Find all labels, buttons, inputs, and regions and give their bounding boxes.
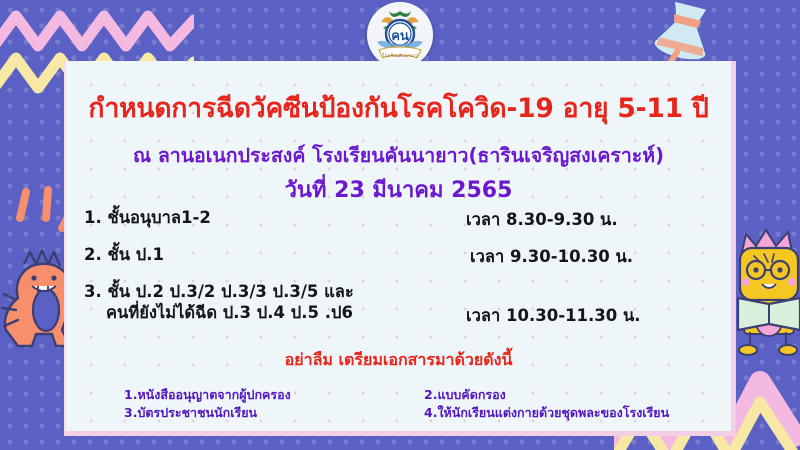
- schedule-time: เวลา 9.30-10.30 น.: [466, 244, 717, 270]
- school-logo: คน โรงเรียนคันนายาว: [367, 2, 433, 68]
- document-item: 3.บัตรประชาชนนักเรียน: [124, 404, 424, 421]
- schedule-class: 2. ชั้น ป.1: [84, 244, 466, 265]
- schedule-time: เวลา 10.30-11.30 น.: [466, 281, 717, 329]
- schedule-class-line-2: คนที่ยังไม่ได้ฉีด ป.3 ป.4 ป.5 .ป6: [84, 302, 466, 323]
- school-emblem-icon: คน โรงเรียนคันนายาว: [367, 2, 433, 68]
- announcement-card: กำหนดการฉีดวัคซีนป้องกันโรคโควิด-19 อายุ…: [64, 61, 736, 436]
- schedule-class: 3. ชั้น ป.2 ป.3/2 ป.3/3 ป.3/5 และ คนที่ย…: [84, 281, 466, 323]
- schedule-time: เวลา 8.30-9.30 น.: [466, 207, 717, 233]
- schedule-list: 1. ชั้นอนุบาล1-2 เวลา 8.30-9.30 น. 2. ชั…: [84, 207, 717, 329]
- svg-text:โรงเรียนคันนายาว: โรงเรียนคันนายาว: [382, 52, 418, 59]
- document-item: 4.ให้นักเรียนแต่งกายด้วยชุดพละของโรงเรีย…: [424, 404, 717, 421]
- documents-list: 1.หนังสืออนุญาตจากผู้ปกครอง 2.แบบคัดกรอง…: [124, 386, 717, 422]
- cat-reading-character-icon: [736, 226, 800, 356]
- document-item: 1.หนังสืออนุญาตจากผู้ปกครอง: [124, 386, 424, 403]
- schedule-row: 3. ชั้น ป.2 ป.3/2 ป.3/3 ป.3/5 และ คนที่ย…: [84, 281, 717, 329]
- documents-heading: อย่าลืม เตรียมเอกสารมาด้วยดังนี้: [66, 348, 731, 373]
- schedule-class-line-1: 3. ชั้น ป.2 ป.3/2 ป.3/3 ป.3/5 และ: [84, 282, 354, 301]
- poster-root: คน โรงเรียนคันนายาว กำหนดการฉีดวัคซีนป้อ…: [0, 0, 800, 450]
- venue-line: ณ ลานอเนกประสงค์ โรงเรียนคันนายาว(ธารินเ…: [66, 140, 731, 171]
- schedule-row: 1. ชั้นอนุบาล1-2 เวลา 8.30-9.30 น.: [84, 207, 717, 233]
- schedule-row: 2. ชั้น ป.1 เวลา 9.30-10.30 น.: [84, 244, 717, 270]
- page-title: กำหนดการฉีดวัคซีนป้องกันโรคโควิด-19 อายุ…: [66, 87, 731, 129]
- document-item: 2.แบบคัดกรอง: [424, 386, 717, 403]
- date-line: วันที่ 23 มีนาคม 2565: [66, 172, 731, 207]
- schedule-class: 1. ชั้นอนุบาล1-2: [84, 207, 466, 228]
- svg-text:คน: คน: [391, 29, 409, 44]
